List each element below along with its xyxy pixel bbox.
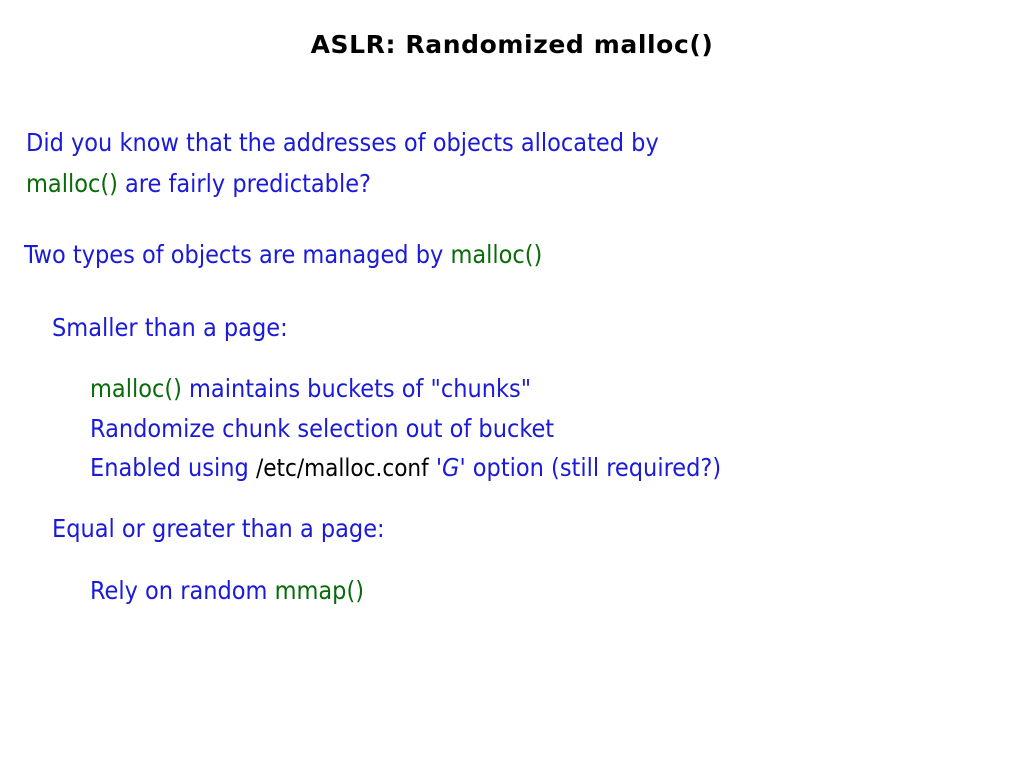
bullet-text-enabled-prefix: Enabled using bbox=[90, 453, 256, 482]
bullet-malloc-buckets: malloc() maintains buckets of "chunks" bbox=[90, 370, 531, 408]
bullet-text-rely-on-random: Rely on random bbox=[90, 576, 275, 605]
bullet-path-malloc-conf: /etc/malloc.conf bbox=[256, 454, 429, 482]
bullet-keyword-malloc: malloc() bbox=[90, 374, 182, 403]
intro-text-line1: Did you know that the addresses of objec… bbox=[26, 128, 659, 157]
bullet-option-flag-g: 'G' bbox=[429, 453, 473, 482]
two-types-text: Two types of objects are managed by bbox=[24, 240, 450, 269]
page-title: ASLR: Randomized malloc() bbox=[0, 30, 1024, 59]
section-heading-smaller-than-page: Smaller than a page: bbox=[52, 309, 288, 347]
two-types-paragraph: Two types of objects are managed by mall… bbox=[24, 236, 542, 274]
bullet-enabled-malloc-conf: Enabled using /etc/malloc.conf 'G' optio… bbox=[90, 449, 721, 487]
bullet-keyword-mmap: mmap() bbox=[275, 576, 364, 605]
intro-paragraph: Did you know that the addresses of objec… bbox=[26, 122, 826, 204]
intro-text-line2: are fairly predictable? bbox=[118, 169, 371, 198]
intro-keyword-malloc: malloc() bbox=[26, 169, 118, 198]
bullet-text-enabled-suffix: option (still required?) bbox=[473, 453, 721, 482]
bullet-text-buckets: maintains buckets of "chunks" bbox=[182, 374, 531, 403]
two-types-keyword-malloc: malloc() bbox=[450, 240, 542, 269]
bullet-rely-on-random-mmap: Rely on random mmap() bbox=[90, 572, 364, 610]
slide-canvas: ASLR: Randomized malloc() Did you know t… bbox=[0, 0, 1024, 768]
bullet-randomize-chunk-selection: Randomize chunk selection out of bucket bbox=[90, 410, 554, 448]
section-heading-equal-or-greater-than-page: Equal or greater than a page: bbox=[52, 510, 385, 548]
